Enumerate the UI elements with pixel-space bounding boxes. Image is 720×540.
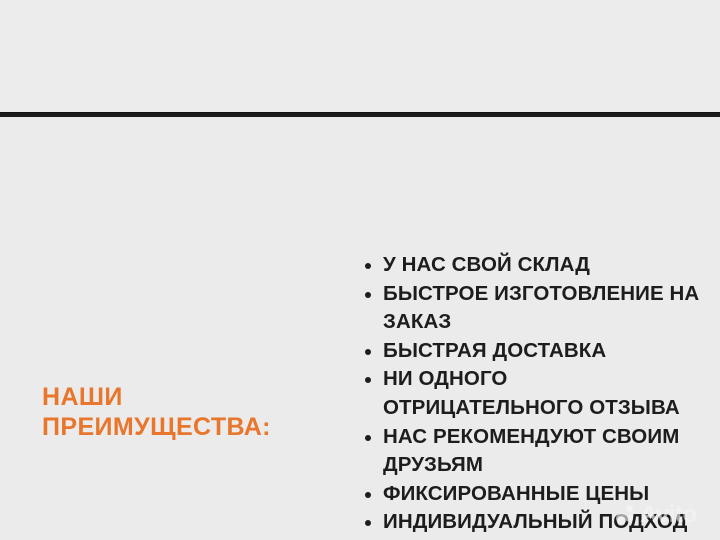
top-band (0, 0, 720, 112)
list-item: У НАС СВОЙ СКЛАД (362, 251, 710, 280)
slide-body: НАШИ ПРЕИМУЩЕСТВА: У НАС СВОЙ СКЛАД БЫСТ… (0, 117, 720, 540)
bullet-dot-icon (365, 492, 371, 498)
list-item: БЫСТРОЕ ИЗГОТОВЛЕНИЕ НА ЗАКАЗ (362, 280, 710, 337)
bullet-dot-icon (365, 435, 371, 441)
bullet-dot-icon (365, 349, 371, 355)
list-item-label: НИ ОДНОГО ОТРИЦАТЕЛЬНОГО ОТЗЫВА (383, 367, 680, 419)
bullet-dot-icon (365, 263, 371, 269)
list-item-label: НАС РЕКОМЕНДУЮТ СВОИМ ДРУЗЬЯМ (383, 425, 679, 477)
list-item-label: БЫСТРАЯ ДОСТАВКА (383, 339, 606, 362)
list-item: ИНДИВИДУАЛЬНЫЙ ПОДХОД (362, 508, 710, 537)
list-item: ФИКСИРОВАННЫЕ ЦЕНЫ (362, 480, 710, 509)
bullet-dot-icon (365, 520, 371, 526)
slide: НАШИ ПРЕИМУЩЕСТВА: У НАС СВОЙ СКЛАД БЫСТ… (0, 0, 720, 540)
list-item: НИ ОДНОГО ОТРИЦАТЕЛЬНОГО ОТЗЫВА (362, 365, 710, 422)
page-title: НАШИ ПРЕИМУЩЕСТВА: (42, 382, 362, 442)
advantages-list: У НАС СВОЙ СКЛАД БЫСТРОЕ ИЗГОТОВЛЕНИЕ НА… (362, 251, 710, 537)
list-item-label: БЫСТРОЕ ИЗГОТОВЛЕНИЕ НА ЗАКАЗ (383, 282, 699, 334)
bullet-dot-icon (365, 377, 371, 383)
list-item-label: У НАС СВОЙ СКЛАД (383, 253, 590, 276)
list-item: НАС РЕКОМЕНДУЮТ СВОИМ ДРУЗЬЯМ (362, 423, 710, 480)
list-item: БЫСТРАЯ ДОСТАВКА (362, 337, 710, 366)
list-item-label: ИНДИВИДУАЛЬНЫЙ ПОДХОД (383, 510, 688, 533)
bullet-dot-icon (365, 292, 371, 298)
list-item-label: ФИКСИРОВАННЫЕ ЦЕНЫ (383, 482, 649, 505)
